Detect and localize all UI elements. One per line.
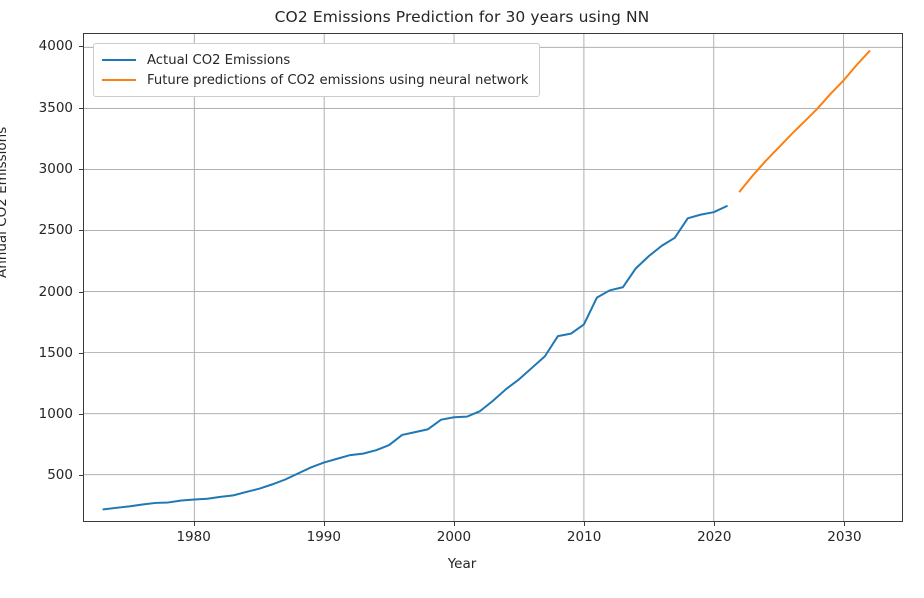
x-tick-label: 2030: [827, 529, 861, 545]
x-tick-label: 2020: [697, 529, 731, 545]
y-tick-label: 500: [0, 467, 73, 483]
y-tick-label: 2000: [0, 284, 73, 300]
legend-swatch-actual: [102, 59, 136, 61]
y-axis-title: Annual CO2 Emissions: [0, 127, 10, 278]
x-tick-mark: [324, 522, 325, 526]
x-tick-mark: [844, 522, 845, 526]
x-tick-mark: [584, 522, 585, 526]
x-tick-mark: [454, 522, 455, 526]
chart-title: CO2 Emissions Prediction for 30 years us…: [0, 8, 924, 26]
y-tick-mark: [79, 108, 83, 109]
y-tick-label: 4000: [0, 38, 73, 54]
x-axis-title: Year: [0, 556, 924, 572]
x-tick-label: 2000: [437, 529, 471, 545]
y-tick-mark: [79, 292, 83, 293]
y-tick-label: 1000: [0, 406, 73, 422]
chart-legend: Actual CO2 Emissions Future predictions …: [93, 43, 540, 97]
y-tick-mark: [79, 230, 83, 231]
y-tick-mark: [79, 414, 83, 415]
y-tick-label: 1500: [0, 345, 73, 361]
legend-label-actual: Actual CO2 Emissions: [147, 53, 290, 68]
y-tick-mark: [79, 169, 83, 170]
y-tick-label: 3500: [0, 100, 73, 116]
x-tick-mark: [194, 522, 195, 526]
chart-figure: CO2 Emissions Prediction for 30 years us…: [0, 0, 924, 598]
x-tick-label: 2010: [567, 529, 601, 545]
series-line-actual: [103, 206, 726, 509]
plot-area: Actual CO2 Emissions Future predictions …: [83, 33, 903, 522]
y-tick-mark: [79, 353, 83, 354]
legend-item-actual: Actual CO2 Emissions: [102, 50, 529, 70]
x-tick-mark: [714, 522, 715, 526]
y-tick-mark: [79, 46, 83, 47]
series-line-prediction: [740, 51, 870, 191]
y-tick-label: 2500: [0, 222, 73, 238]
legend-label-prediction: Future predictions of CO2 emissions usin…: [147, 73, 529, 88]
legend-swatch-prediction: [102, 79, 136, 81]
y-tick-label: 3000: [0, 161, 73, 177]
legend-item-prediction: Future predictions of CO2 emissions usin…: [102, 70, 529, 90]
y-tick-mark: [79, 475, 83, 476]
x-tick-label: 1980: [176, 529, 210, 545]
x-tick-label: 1990: [307, 529, 341, 545]
data-series-layer: [84, 34, 902, 521]
